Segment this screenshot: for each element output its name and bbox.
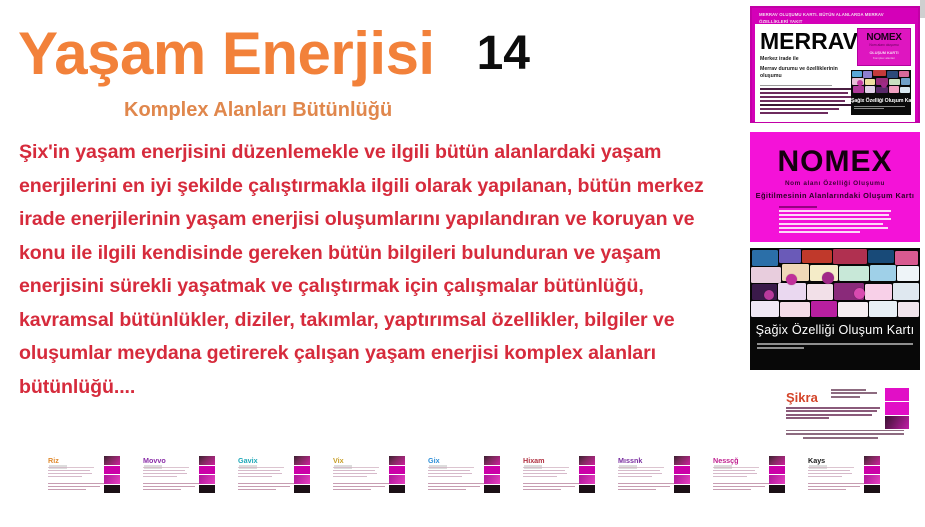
sikra-header-lines <box>831 389 879 399</box>
sikra-footer-lines <box>786 430 904 441</box>
list-item[interactable]: Movvo <box>141 455 215 500</box>
collage-thumb-grid <box>851 70 911 96</box>
merrav-collage-thumbnail[interactable]: Şağix Özelliği Oluşum Kartı <box>851 70 911 115</box>
nomex-thumb-line1: Nom alanı oluşumu <box>858 43 910 48</box>
mini-card-thumbnails <box>579 456 595 494</box>
sagix-sub-lines <box>757 343 913 349</box>
mini-card-footer-lines <box>48 483 108 491</box>
list-item[interactable]: Vix <box>331 455 405 500</box>
mini-card-thumbnails <box>389 456 405 494</box>
list-item[interactable]: Mıssnk <box>616 455 690 500</box>
nomex-title: NOMEX <box>750 146 920 178</box>
collage-grid <box>750 248 920 320</box>
mini-card-label: Hixam <box>523 457 545 465</box>
mini-card-thumbnails <box>674 456 690 494</box>
mini-card-label: Vix <box>333 457 344 465</box>
mini-card-thumbnails <box>199 456 215 494</box>
mini-card-thumbnails <box>484 456 500 494</box>
poster-page: Yaşam Enerjisi 14 Komplex Alanları Bütün… <box>0 0 925 527</box>
list-item[interactable]: Gavix <box>236 455 310 500</box>
merrav-card[interactable]: MERRAV OLUŞUMU KARTI. BÜTÜN ALANLARDA ME… <box>750 6 920 123</box>
merrav-card-body: MERRAV Merkez irade ile Merrav durumu ve… <box>755 24 915 122</box>
sagix-caption: Şağix Özelliği Oluşum Kartı <box>750 320 920 340</box>
nomex-line2: Eğitilmesinin Alanlarındaki Oluşum Kartı <box>750 189 920 202</box>
mini-card-label: Gavix <box>238 457 258 465</box>
sikra-body-lines <box>786 407 880 421</box>
mini-card-footer-lines <box>333 483 393 491</box>
mini-card-label: Movvo <box>143 457 166 465</box>
list-item[interactable]: Riz <box>46 455 120 500</box>
mini-card-lines <box>48 467 96 479</box>
title-row: Yaşam Enerjisi 14 <box>18 14 718 94</box>
page-title: Yaşam Enerjisi <box>18 24 435 84</box>
mini-card-label: Mıssnk <box>618 457 642 465</box>
sikra-thumbnails <box>885 388 909 432</box>
mini-card-label: Gix <box>428 457 440 465</box>
merrav-subtitle-line1: Merkez irade ile <box>760 56 856 64</box>
sikra-title: Şikra <box>786 391 818 405</box>
mini-card-thumbnails <box>294 456 310 494</box>
nomex-card[interactable]: NOMEX Nom alanı Özelliği Oluşumu Eğitilm… <box>750 132 920 242</box>
nomex-line1: Nom alanı Özelliği Oluşumu <box>750 178 920 189</box>
sidebar-cards-column: MERRAV OLUŞUMU KARTI. BÜTÜN ALANLARDA ME… <box>750 6 922 521</box>
main-content-column: Yaşam Enerjisi 14 Komplex Alanları Bütün… <box>0 0 745 527</box>
collage-thumb-lines <box>854 106 908 109</box>
merrav-banner-text: MERRAV OLUŞUMU KARTI. BÜTÜN ALANLARDA ME… <box>755 11 915 24</box>
mini-card-footer-lines <box>238 483 298 491</box>
list-item[interactable]: Hixam <box>521 455 595 500</box>
mini-card-footer-lines <box>143 483 203 491</box>
merrav-subtitle-line2: Merrav durumu ve özelliklerinin oluşumu <box>760 66 856 81</box>
merrav-nomex-thumbnail[interactable]: NOMEX Nom alanı oluşumu OLUŞUM KARTI Kom… <box>857 28 911 66</box>
mini-card-lines <box>523 467 571 479</box>
page-subtitle: Komplex Alanları Bütünlüğü <box>124 99 392 122</box>
sikra-card[interactable]: Şikra <box>783 386 911 444</box>
mini-card-footer-lines <box>428 483 488 491</box>
mini-card-label: Riz <box>48 457 59 465</box>
nomex-paragraph-lines <box>779 206 891 233</box>
list-item[interactable]: Gix <box>426 455 500 500</box>
collage-thumb-caption: Şağix Özelliği Oluşum Kartı <box>851 97 911 105</box>
nomex-thumb-line3: Komplex alanları <box>858 56 910 61</box>
mini-card-lines <box>143 467 191 479</box>
issue-number: 14 <box>477 30 530 78</box>
mini-card-label: Nessçğ <box>713 457 739 465</box>
mini-card-footer-lines <box>618 483 678 491</box>
edge-sliver <box>920 0 925 18</box>
mini-card-lines <box>618 467 666 479</box>
merrav-paragraph-lines <box>760 85 852 115</box>
mini-card-lines <box>428 467 476 479</box>
mini-card-lines <box>238 467 286 479</box>
nomex-thumb-title: NOMEX <box>858 32 910 43</box>
mini-card-thumbnails <box>104 456 120 494</box>
body-paragraph: Şix'in yaşam enerjisini düzenlemekle ve … <box>19 136 739 404</box>
mini-card-footer-lines <box>523 483 583 491</box>
mini-card-lines <box>333 467 381 479</box>
sagix-collage-card[interactable]: Şağix Özelliği Oluşum Kartı <box>750 248 920 370</box>
